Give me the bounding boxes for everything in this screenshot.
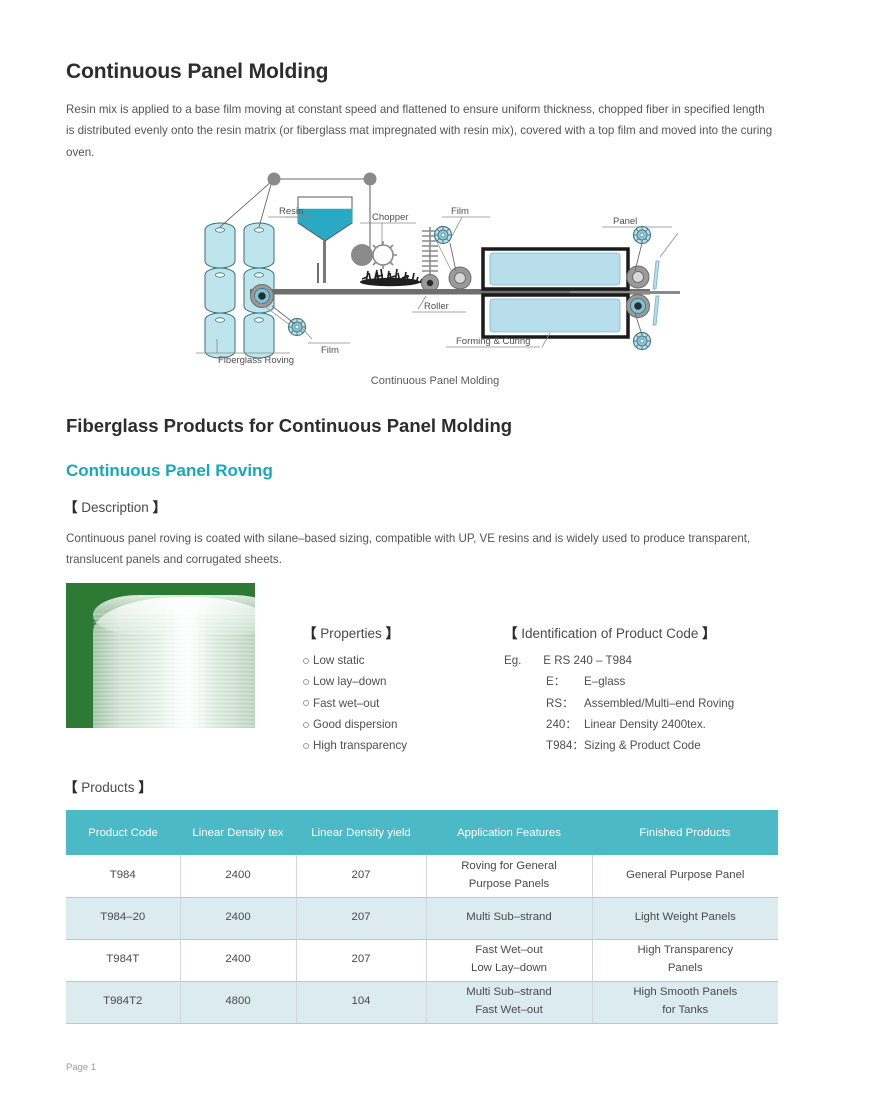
- table-row: T984–20 2400 207 Multi Sub–strand Light …: [66, 897, 778, 939]
- list-item: Low lay–down: [303, 671, 407, 692]
- bullet-ring-icon: [303, 700, 309, 706]
- products-label-text: Products: [81, 780, 134, 795]
- label-roller: Roller: [424, 301, 449, 312]
- column-header-application-features: Application Features: [426, 810, 592, 855]
- cell-features: Roving for General Purpose Panels: [426, 855, 592, 897]
- film-roll-exit-bottom: [634, 333, 651, 350]
- code-key: RS：: [504, 693, 584, 714]
- label-resin: Resin: [279, 206, 303, 217]
- label-film-top: Film: [451, 206, 469, 217]
- finished-line-2: for Tanks: [594, 1002, 778, 1020]
- cell-product-code: T984T: [66, 939, 180, 981]
- features-line-2: Low Lay–down: [428, 960, 591, 978]
- table-header-row: Product Code Linear Density tex Linear D…: [66, 810, 778, 855]
- code-key: 240：: [504, 714, 584, 735]
- product-name-heading: Continuous Panel Roving: [66, 461, 273, 481]
- list-item: Low static: [303, 650, 407, 671]
- column-header-linear-density-tex: Linear Density tex: [180, 810, 296, 855]
- cell-finished: Light Weight Panels: [592, 897, 778, 939]
- cell-product-code: T984–20: [66, 897, 180, 939]
- finished-line-2: Panels: [594, 960, 778, 978]
- property-text: Low static: [313, 650, 365, 671]
- features-line-1: Roving for General: [428, 858, 591, 876]
- code-key: T984：: [504, 735, 584, 756]
- document-page: Continuous Panel Molding Resin mix is ap…: [0, 0, 870, 1120]
- cell-features: Multi Sub–strand Fast Wet–out: [426, 981, 592, 1023]
- cell-yield: 104: [296, 981, 426, 1023]
- bullet-ring-icon: [303, 722, 309, 728]
- finished-line-1: High Smooth Panels: [594, 984, 778, 1002]
- bullet-ring-icon: [303, 679, 309, 685]
- bracket-close-props: 】: [386, 626, 400, 641]
- table-row: RS： Assembled/Multi–end Roving: [504, 693, 734, 714]
- code-value: Sizing & Product Code: [584, 735, 734, 756]
- description-label: 【 Description 】: [64, 496, 166, 516]
- exit-roller-lower: [627, 295, 650, 318]
- page-footer: Page 1: [66, 1062, 96, 1073]
- features-line-1: Fast Wet–out: [428, 942, 591, 960]
- column-header-linear-density-yield: Linear Density yield: [296, 810, 426, 855]
- film-roll-top: [435, 227, 452, 244]
- properties-list: Low static Low lay–down Fast wet–out Goo…: [303, 650, 407, 757]
- table-row: T984T 2400 207 Fast Wet–out Low Lay–down…: [66, 939, 778, 981]
- table-row: 240： Linear Density 2400tex.: [504, 714, 734, 735]
- section-heading-products: Fiberglass Products for Continuous Panel…: [66, 415, 512, 437]
- list-item: Fast wet–out: [303, 693, 407, 714]
- nip-roller: [449, 267, 471, 289]
- properties-label-text: Properties: [320, 626, 382, 641]
- bracket-close-left: 】: [153, 500, 167, 515]
- column-header-product-code: Product Code: [66, 810, 180, 855]
- roving-highlight-sheen: [162, 601, 210, 728]
- bracket-open-code: 【: [504, 626, 518, 641]
- code-key: E：: [504, 671, 584, 692]
- code-value: Assembled/Multi–end Roving: [584, 693, 734, 714]
- cell-features: Fast Wet–out Low Lay–down: [426, 939, 592, 981]
- film-roll-exit-top: [634, 227, 651, 244]
- table-row: T984： Sizing & Product Code: [504, 735, 734, 756]
- label-forming-curing: Forming & Curing: [456, 336, 530, 347]
- cell-finished: High Smooth Panels for Tanks: [592, 981, 778, 1023]
- chopper-unit: [351, 241, 397, 269]
- label-fiberglass-roving: Fiberglass Roving: [218, 355, 294, 366]
- features-line-2: Purpose Panels: [428, 876, 591, 894]
- cell-tex: 2400: [180, 897, 296, 939]
- code-breakdown-table: E： E–glass RS： Assembled/Multi–end Rovin…: [504, 671, 734, 756]
- code-example-row: Eg. E RS 240 – T984: [504, 650, 734, 671]
- products-label: 【 Products 】: [64, 776, 152, 796]
- bracket-close-code: 】: [702, 626, 716, 641]
- exit-roller-upper: [627, 266, 649, 288]
- description-label-text: Description: [81, 500, 149, 515]
- cell-finished: High Transparency Panels: [592, 939, 778, 981]
- cell-tex: 2400: [180, 939, 296, 981]
- cell-tex: 4800: [180, 981, 296, 1023]
- table-row: E： E–glass: [504, 671, 734, 692]
- intro-paragraph: Resin mix is applied to a base film movi…: [66, 99, 774, 163]
- cell-features: Multi Sub–strand: [426, 897, 592, 939]
- product-code-label: 【 Identification of Product Code 】: [504, 622, 734, 642]
- bracket-open-props: 【: [303, 626, 317, 641]
- products-table: Product Code Linear Density tex Linear D…: [66, 810, 778, 1024]
- page-title: Continuous Panel Molding: [66, 60, 328, 84]
- cell-finished: General Purpose Panel: [592, 855, 778, 897]
- property-text: Fast wet–out: [313, 693, 379, 714]
- product-code-block: 【 Identification of Product Code 】 Eg. E…: [504, 622, 734, 757]
- properties-block: 【 Properties 】 Low static Low lay–down F…: [303, 622, 407, 757]
- properties-label: 【 Properties 】: [303, 622, 407, 642]
- features-line-2: Fast Wet–out: [428, 1002, 591, 1020]
- table-row: T984T2 4800 104 Multi Sub–strand Fast We…: [66, 981, 778, 1023]
- description-text: Continuous panel roving is coated with s…: [66, 528, 766, 571]
- cell-product-code: T984T2: [66, 981, 180, 1023]
- roving-product-photo: [66, 583, 255, 728]
- bullet-ring-icon: [303, 658, 309, 664]
- code-example-prefix: Eg.: [504, 650, 540, 671]
- chopped-fiber-mass: [360, 278, 420, 286]
- features-line-1: Multi Sub–strand: [428, 984, 591, 1002]
- code-value: E–glass: [584, 671, 734, 692]
- bracket-close-prod: 】: [138, 780, 152, 795]
- property-text: High transparency: [313, 735, 407, 756]
- label-film-bottom: Film: [321, 345, 339, 356]
- code-value: Linear Density 2400tex.: [584, 714, 734, 735]
- cell-product-code: T984: [66, 855, 180, 897]
- bracket-open-prod: 【: [64, 780, 78, 795]
- table-row: T984 2400 207 Roving for General Purpose…: [66, 855, 778, 897]
- finished-line-1: High Transparency: [594, 942, 778, 960]
- cell-yield: 207: [296, 855, 426, 897]
- finished-line-1: General Purpose Panel: [594, 867, 778, 885]
- bracket-open-left: 【: [64, 500, 78, 515]
- diagram-caption: Continuous Panel Molding: [0, 375, 870, 387]
- property-text: Good dispersion: [313, 714, 397, 735]
- list-item: High transparency: [303, 735, 407, 756]
- strand-feed-lines: [220, 181, 272, 227]
- list-item: Good dispersion: [303, 714, 407, 735]
- bullet-ring-icon: [303, 743, 309, 749]
- property-text: Low lay–down: [313, 671, 386, 692]
- process-diagram: Fiberglass Roving Resin Chopper Film Fil…: [190, 165, 680, 370]
- label-panel: Panel: [613, 216, 637, 227]
- label-chopper: Chopper: [372, 212, 408, 223]
- cell-tex: 2400: [180, 855, 296, 897]
- code-example-value: E RS 240 – T984: [543, 654, 632, 667]
- product-code-label-text: Identification of Product Code: [521, 626, 698, 641]
- resin-hopper: [298, 197, 352, 283]
- cell-yield: 207: [296, 939, 426, 981]
- column-header-finished-products: Finished Products: [592, 810, 778, 855]
- cell-yield: 207: [296, 897, 426, 939]
- process-diagram-svg: Fiberglass Roving Resin Chopper Film Fil…: [190, 165, 680, 370]
